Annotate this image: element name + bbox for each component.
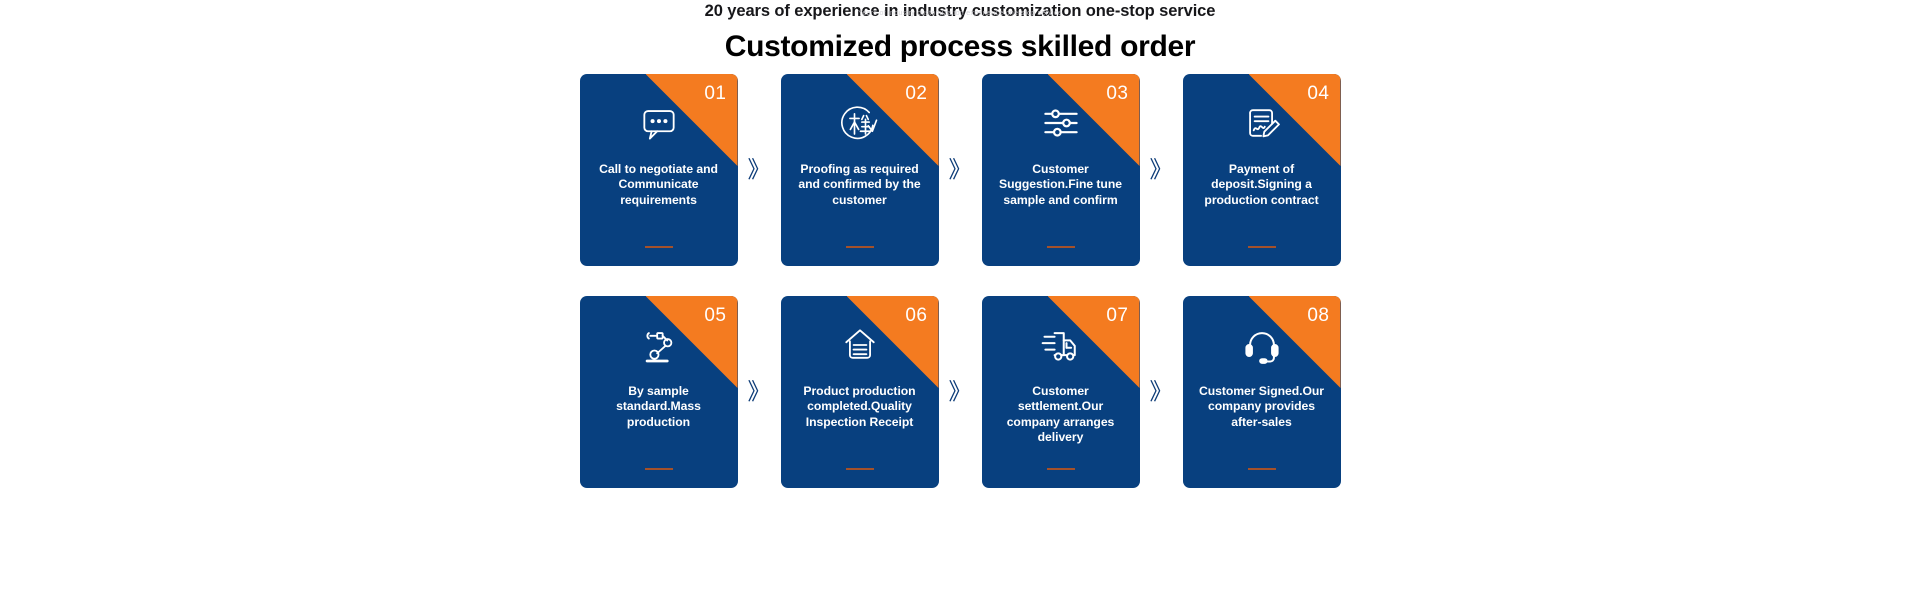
- card-underline: [645, 246, 673, 248]
- sliders-adjust-icon: [982, 100, 1140, 146]
- card-underline: [846, 468, 874, 470]
- step-separator: 》: [939, 296, 982, 488]
- process-card-03[interactable]: 03 Customer Suggestion.Fine tune sample …: [982, 74, 1140, 266]
- step-separator: 》: [1140, 296, 1183, 488]
- process-row-1: 01 Call to negotiate and Communicate req…: [0, 74, 1920, 266]
- page-title: Customized process skilled order: [0, 28, 1920, 66]
- warehouse-document-icon: [781, 322, 939, 368]
- sample-character-circle-check-icon: [781, 100, 939, 146]
- card-description: Customer Signed.Our company provides aft…: [1193, 384, 1331, 430]
- robotic-arm-icon: [580, 322, 738, 368]
- card-description: Proofing as required and confirmed by th…: [791, 162, 929, 208]
- delivery-truck-icon: [982, 322, 1140, 368]
- process-card-01[interactable]: 01 Call to negotiate and Communicate req…: [580, 74, 738, 266]
- card-underline: [1248, 468, 1276, 470]
- speech-bubble-dots-icon: [580, 100, 738, 146]
- card-underline: [1047, 468, 1075, 470]
- card-description: Payment of deposit.Signing a production …: [1193, 162, 1331, 208]
- process-card-05[interactable]: 05 By sample standard.Mass production: [580, 296, 738, 488]
- card-description: Product production completed.Quality Ins…: [791, 384, 929, 430]
- process-card-06[interactable]: 06 Product production completed.Quality …: [781, 296, 939, 488]
- card-description: Call to negotiate and Communicate requir…: [590, 162, 728, 208]
- card-underline: [1248, 246, 1276, 248]
- card-description: Customer settlement.Our company arranges…: [992, 384, 1130, 446]
- card-description: By sample standard.Mass production: [590, 384, 728, 430]
- process-card-07[interactable]: 07 Customer settlement.Our company arran…: [982, 296, 1140, 488]
- step-separator: 》: [738, 296, 781, 488]
- headset-support-icon: [1183, 322, 1341, 368]
- contract-signature-pen-icon: [1183, 100, 1341, 146]
- process-card-04[interactable]: 04 Payment of deposit.Signing a producti…: [1183, 74, 1341, 266]
- card-description: Customer Suggestion.Fine tune sample and…: [992, 162, 1130, 208]
- page-header: Years of industry customization experien…: [0, 0, 1920, 65]
- card-underline: [645, 468, 673, 470]
- process-card-02[interactable]: 02 Proof: [781, 74, 939, 266]
- process-flow-page: Years of industry customization experien…: [0, 0, 1920, 600]
- page-subtitle: 20 years of experience in industry custo…: [0, 2, 1920, 22]
- step-separator: 》: [738, 74, 781, 266]
- process-card-08[interactable]: 08 Customer Signed.Our company provides …: [1183, 296, 1341, 488]
- card-underline: [846, 246, 874, 248]
- card-underline: [1047, 246, 1075, 248]
- step-separator: 》: [939, 74, 982, 266]
- process-row-2: 05 By sample standard.Mass production 》: [0, 296, 1920, 488]
- step-separator: 》: [1140, 74, 1183, 266]
